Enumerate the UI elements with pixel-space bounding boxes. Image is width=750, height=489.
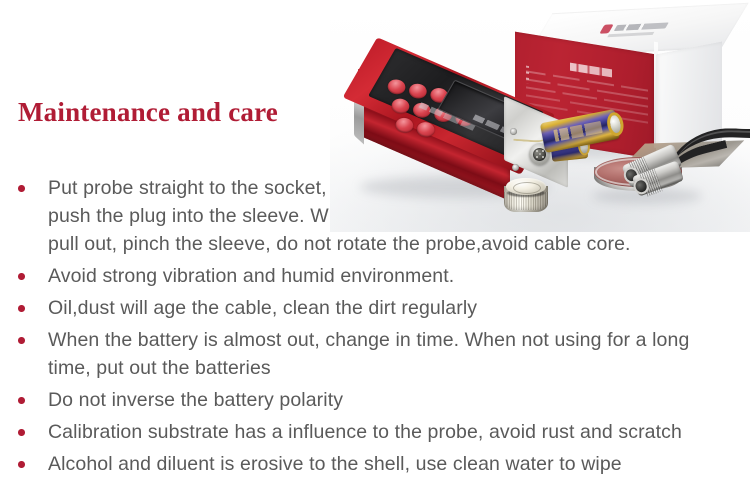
list-item: Avoid strong vibration and humid environ… <box>0 262 740 290</box>
list-item-line: Avoid strong vibration and humid environ… <box>48 262 740 290</box>
maintenance-and-care-slide: Maintenance and care Put probe straight … <box>0 0 750 489</box>
list-item-line: When the battery is almost out, change i… <box>48 326 740 354</box>
zero-calibration-block <box>504 178 548 212</box>
block-top-ring <box>513 182 541 194</box>
thickness-gauge-device <box>354 76 570 192</box>
list-item-line: time, put out the batteries <box>48 354 740 382</box>
faceplate-screw <box>512 164 519 171</box>
list-item: Oil,dust will age the cable, clean the d… <box>0 294 740 322</box>
list-item-line: Oil,dust will age the cable, clean the d… <box>48 294 740 322</box>
list-item: Calibration substrate has a influence to… <box>0 418 740 446</box>
list-item: Do not inverse the battery polarity <box>0 386 740 414</box>
list-item: When the battery is almost out, change i… <box>0 326 740 382</box>
list-item-line: Alcohol and diluent is erosive to the sh… <box>48 450 740 478</box>
product-photo <box>330 0 750 232</box>
page-title: Maintenance and care <box>18 97 278 128</box>
list-item-line: pull out, pinch the sleeve, do not rotat… <box>48 230 740 258</box>
list-item-line: Do not inverse the battery polarity <box>48 386 740 414</box>
keypad-key <box>406 81 430 101</box>
logo-wordmark <box>614 22 669 31</box>
list-item: Alcohol and diluent is erosive to the sh… <box>0 450 740 478</box>
list-item-line: Calibration substrate has a influence to… <box>48 418 740 446</box>
